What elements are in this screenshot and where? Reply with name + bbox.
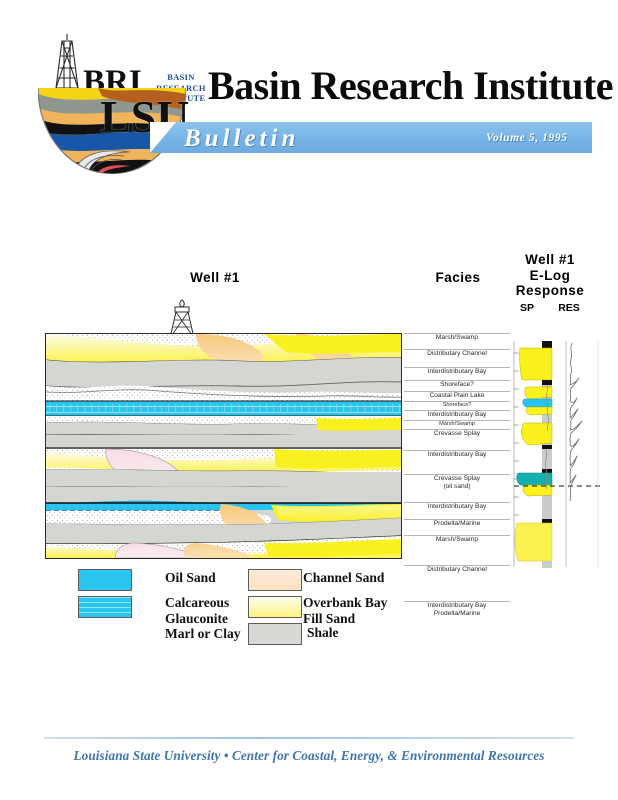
- facies-label: Interdistributary Bay: [404, 503, 510, 511]
- facies-sublabel: Prodelta/Marine: [404, 610, 510, 618]
- facies-label: Marsh/Swamp: [404, 334, 510, 342]
- facies-sublabel: (oil sand): [404, 483, 510, 491]
- volume-label: Volume 5, 1995: [486, 122, 568, 153]
- facies-row: Shoreface?: [404, 380, 510, 389]
- facies-header-label: Facies: [418, 270, 498, 285]
- legend-label-line-2: Glauconite: [165, 611, 240, 627]
- legend-swatch-oil-sand: [78, 569, 132, 591]
- facies-label: Prodelta/Marine: [404, 520, 510, 528]
- legend-label-line-1: Overbank Bay: [303, 595, 387, 611]
- cross-section-panel: [45, 333, 402, 559]
- facies-row: Crevasse Splay: [404, 429, 510, 438]
- legend-label-line-3: Marl or Clay: [165, 626, 240, 642]
- legend-swatch-shale: [248, 623, 302, 645]
- footer-text: Louisiana State University • Center for …: [0, 748, 618, 764]
- facies-label: Distributary Channel: [404, 566, 510, 574]
- facies-label: Interdistributary Bay: [404, 451, 510, 459]
- legend-label-line-2: Fill Sand: [303, 611, 387, 627]
- facies-label: Marsh/Swamp: [404, 536, 510, 544]
- facies-row: Interdistributary Bay: [404, 367, 510, 376]
- facies-row: Shoreface?: [404, 401, 510, 408]
- res-track: [566, 341, 598, 567]
- facies-label: Shoreface?: [404, 381, 510, 389]
- facies-label: Coastal Plain Lake: [404, 392, 510, 400]
- sp-track: [514, 341, 600, 568]
- facies-label: Distributary Channel: [404, 350, 510, 358]
- legend-label-overbank-sand: Overbank Bay Fill Sand: [303, 595, 387, 626]
- facies-label: Shoreface?: [404, 402, 510, 408]
- facies-label: Interdistributary Bay: [404, 411, 510, 419]
- facies-label: Interdistributary Bay: [404, 368, 510, 376]
- legend-label-calcareous-marl: Calcareous Glauconite Marl or Clay: [165, 595, 240, 642]
- legend-label-shale: Shale: [307, 625, 339, 641]
- facies-row: Distributary Channel: [404, 349, 510, 358]
- facies-row: Prodelta/Marine: [404, 519, 510, 528]
- publication-title: Basin Research Institute: [208, 66, 613, 106]
- facies-row: Marsh/Swamp: [404, 333, 510, 342]
- legend-swatch-overbank-sand: [248, 596, 302, 618]
- elog-header-line-2: E-Log: [500, 268, 600, 284]
- facies-row: Distributary Channel: [404, 565, 510, 574]
- masthead: BRI BASIN RESEARCH INSTITUTE: [0, 0, 618, 185]
- facies-label: Marsh/Swamp: [404, 421, 510, 427]
- elog-header-label: Well #1 E-Log Response: [500, 252, 600, 299]
- facies-label: Crevasse Splay: [404, 475, 510, 483]
- facies-row: Interdistributary Bay: [404, 502, 510, 511]
- legend: Oil Sand Calcareous Glauconite Marl or C…: [45, 565, 403, 665]
- facies-row: Marsh/Swamp: [404, 535, 510, 544]
- facies-row: Interdistributary Bay: [404, 410, 510, 419]
- legend-label-line-1: Calcareous: [165, 595, 240, 611]
- facies-row: Crevasse Splay (oil sand): [404, 474, 510, 490]
- res-track-label: RES: [552, 302, 586, 314]
- facies-label: Crevasse Splay: [404, 430, 510, 438]
- facies-row: Interdistributary Bay: [404, 450, 510, 459]
- publication-subtitle: Bulletin: [184, 122, 299, 153]
- elog-header-line-3: Response: [500, 283, 600, 299]
- well-header-label: Well #1: [170, 270, 260, 285]
- facies-row: Coastal Plain Lake: [404, 391, 510, 400]
- facies-row: Interdistributary Bay Prodelta/Marine: [404, 601, 510, 617]
- sp-track-label: SP: [512, 302, 542, 314]
- facies-label: Interdistributary Bay: [404, 602, 510, 610]
- facies-row: Marsh/Swamp: [404, 420, 510, 427]
- facies-label-column: Marsh/Swamp Distributary Channel Interdi…: [404, 333, 510, 557]
- legend-swatch-calcareous-marl: [78, 596, 132, 618]
- elog-header-line-1: Well #1: [500, 252, 600, 268]
- legend-swatch-channel-sand: [248, 569, 302, 591]
- elog-panel: [512, 323, 602, 563]
- page: BRI BASIN RESEARCH INSTITUTE: [0, 0, 618, 800]
- legend-label-oil-sand: Oil Sand: [165, 570, 216, 586]
- footer-divider: [44, 737, 574, 739]
- legend-label-channel-sand: Channel Sand: [303, 570, 384, 586]
